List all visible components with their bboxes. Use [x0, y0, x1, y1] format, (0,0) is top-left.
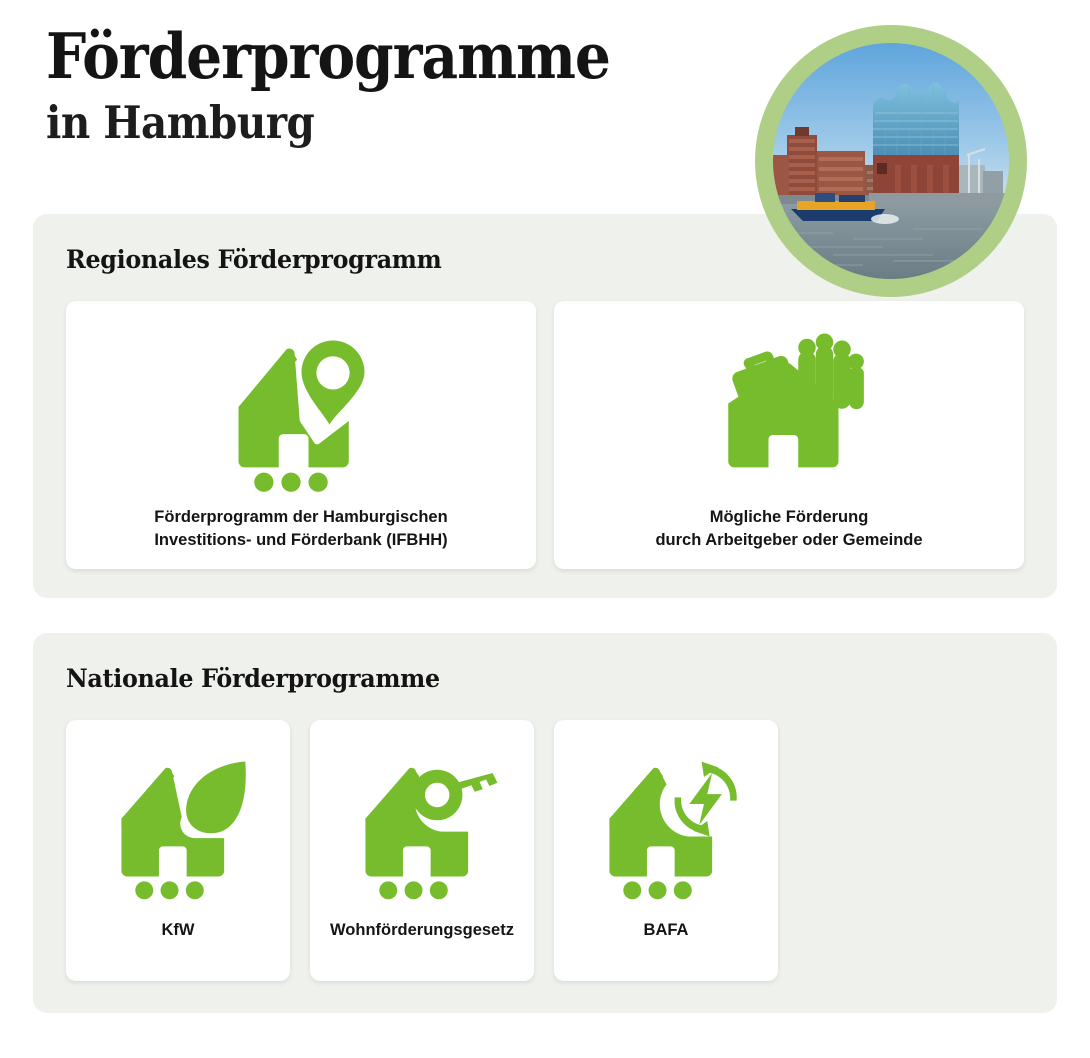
house-leaf-icon [97, 742, 260, 905]
house-key-icon [341, 742, 504, 905]
page-title: Förderprogramme [46, 24, 676, 89]
page-header: Förderprogramme in Hamburg [46, 24, 746, 146]
card-kfw[interactable]: KfW [66, 720, 290, 981]
card-arbeitgeber-gemeinde[interactable]: Mögliche Förderung durch Arbeitgeber ode… [554, 301, 1024, 569]
card-label-line2: durch Arbeitgeber oder Gemeinde [655, 529, 922, 552]
hero-photo-elbphilharmonie [773, 43, 1009, 279]
card-label-wohnfoerderungsgesetz: Wohnförderungsgesetz [316, 919, 528, 942]
card-label-line2: Investitions- und Förderbank (IFBHH) [154, 529, 447, 552]
card-label-line1: Mögliche Förderung [655, 506, 922, 529]
national-card-row: KfW Wohnförderung [66, 720, 778, 981]
regional-card-row: Förderprogramm der Hamburgischen Investi… [66, 301, 1024, 569]
hero-photo-ring [755, 25, 1027, 297]
page-subtitle: in Hamburg [46, 99, 676, 146]
card-label-kfw: KfW [148, 919, 209, 942]
section-title-regional: Regionales Förderprogramm [66, 245, 442, 274]
house-energy-icon [585, 742, 748, 905]
house-briefcase-people-icon [702, 323, 877, 498]
section-national: Nationale Förderprogramme KfW [33, 633, 1057, 1013]
card-bafa[interactable]: BAFA [554, 720, 778, 981]
card-label-line1: Förderprogramm der Hamburgischen [154, 506, 447, 529]
card-label-bafa: BAFA [630, 919, 703, 942]
elbphilharmonie-illustration [773, 43, 1009, 279]
section-title-national: Nationale Förderprogramme [66, 664, 440, 693]
card-label-ifbhh: Förderprogramm der Hamburgischen Investi… [140, 506, 461, 553]
card-wohnfoerderungsgesetz[interactable]: Wohnförderungsgesetz [310, 720, 534, 981]
card-ifbhh[interactable]: Förderprogramm der Hamburgischen Investi… [66, 301, 536, 569]
infographic-page: Förderprogramme in Hamburg [0, 0, 1090, 1058]
card-label-arbeitgeber-gemeinde: Mögliche Förderung durch Arbeitgeber ode… [641, 506, 936, 553]
house-map-pin-icon [214, 323, 389, 498]
